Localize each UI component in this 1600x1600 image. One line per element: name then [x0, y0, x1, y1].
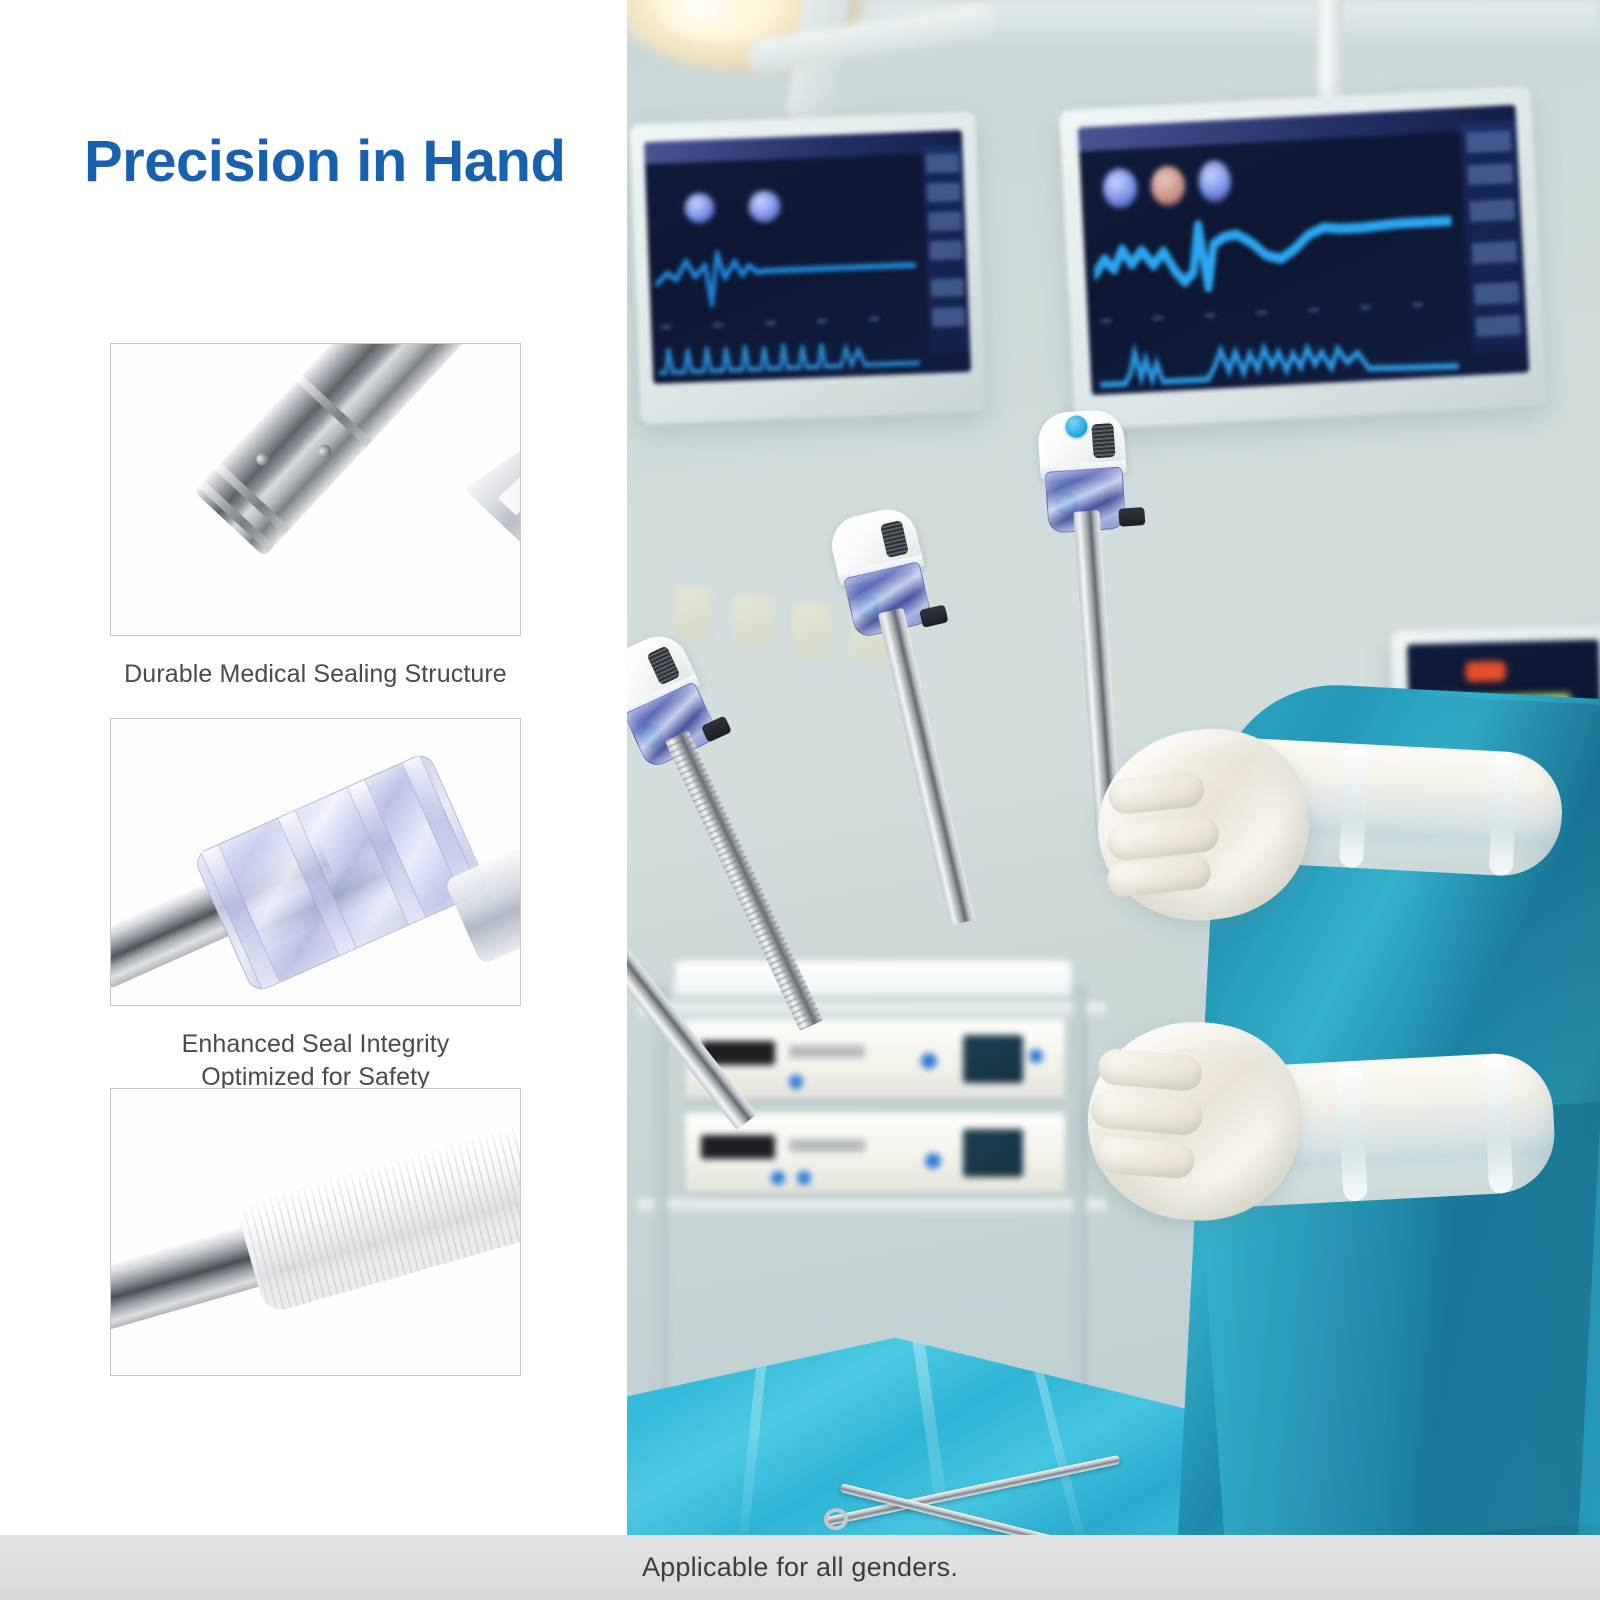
cart-shelf: [637, 1199, 1107, 1215]
monitor-left-screen: [644, 130, 971, 384]
feature-block-3: [110, 1088, 521, 1376]
features-column: Precision in Hand Durable Medical Sealin…: [0, 0, 627, 1535]
wall-panel: [735, 596, 771, 648]
footer-bar: Applicable for all genders.: [0, 1535, 1600, 1600]
page-title: Precision in Hand: [84, 128, 624, 195]
feature-block-1: Durable Medical Sealing Structure: [110, 343, 521, 691]
feature-caption-2-line-1: Enhanced Seal Integrity: [110, 1028, 521, 1061]
feature-image-cannula-sleeve: [110, 1088, 521, 1376]
monitor-right-screen: [1078, 105, 1529, 396]
feature-image-obturator-tip: [110, 343, 521, 636]
cart-leg: [1074, 985, 1085, 1415]
vital-signs-monitor-left: [629, 111, 986, 424]
vital-signs-monitor-right: [1059, 86, 1547, 430]
footer-text: Applicable for all genders.: [642, 1552, 958, 1583]
operating-room-photo: [627, 0, 1600, 1535]
feature-caption-2: Enhanced Seal Integrity Optimized for Sa…: [110, 1028, 521, 1095]
monitor-right-sidebar: [1459, 121, 1528, 354]
product-feature-page: Precision in Hand Durable Medical Sealin…: [0, 0, 1600, 1600]
feature-image-seal-housing: [110, 718, 521, 1006]
monitor-left-sidebar: [921, 144, 970, 354]
feature-caption-1: Durable Medical Sealing Structure: [110, 658, 521, 691]
feature-block-2: Enhanced Seal Integrity Optimized for Sa…: [110, 718, 521, 1095]
